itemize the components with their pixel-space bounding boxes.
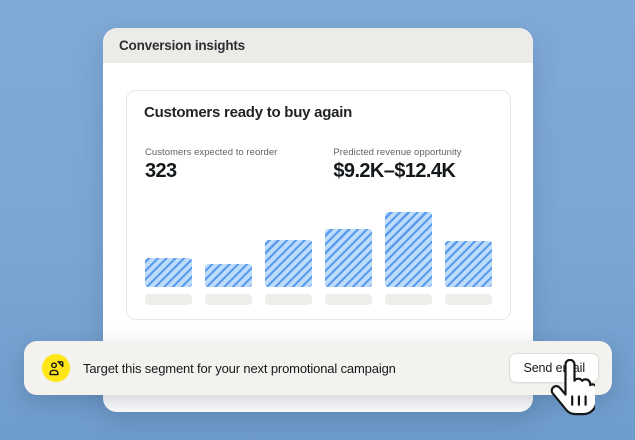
bar-label-placeholder — [385, 294, 432, 305]
chart-bar — [445, 241, 492, 287]
customer-segment-icon — [42, 354, 70, 382]
promotional-campaign-banner: Target this segment for your next promot… — [24, 341, 612, 395]
bar-label-placeholder — [145, 294, 192, 305]
bar-label-placeholder — [325, 294, 372, 305]
send-email-button[interactable]: Send email — [509, 353, 599, 383]
chart-bar — [325, 229, 372, 287]
chart-bar — [145, 258, 192, 287]
bar-label-placeholder — [205, 294, 252, 305]
bar-column — [385, 195, 432, 305]
reorder-bar-chart — [145, 195, 496, 305]
metric-value: 323 — [145, 161, 277, 181]
banner-message: Target this segment for your next promot… — [83, 361, 509, 376]
panel-title: Conversion insights — [119, 38, 245, 53]
metric-customers-expected-to-reorder: Customers expected to reorder 323 — [145, 147, 277, 181]
bar-label-placeholder — [265, 294, 312, 305]
chart-bar — [385, 212, 432, 287]
bar-label-placeholder — [445, 294, 492, 305]
card-title: Customers ready to buy again — [144, 104, 352, 121]
bar-column — [145, 195, 192, 305]
bar-column — [445, 195, 492, 305]
bar-column — [325, 195, 372, 305]
metric-value: $9.2K–$12.4K — [333, 161, 461, 181]
metrics-row: Customers expected to reorder 323 Predic… — [145, 147, 462, 181]
bar-column — [205, 195, 252, 305]
chart-bar — [265, 240, 312, 287]
bar-column — [265, 195, 312, 305]
insight-card: Customers ready to buy again Customers e… — [126, 90, 511, 320]
chart-bar — [205, 264, 252, 287]
panel-header: Conversion insights — [103, 28, 533, 63]
metric-predicted-revenue-opportunity: Predicted revenue opportunity $9.2K–$12.… — [333, 147, 461, 181]
metric-label: Customers expected to reorder — [145, 147, 277, 158]
metric-label: Predicted revenue opportunity — [333, 147, 461, 158]
